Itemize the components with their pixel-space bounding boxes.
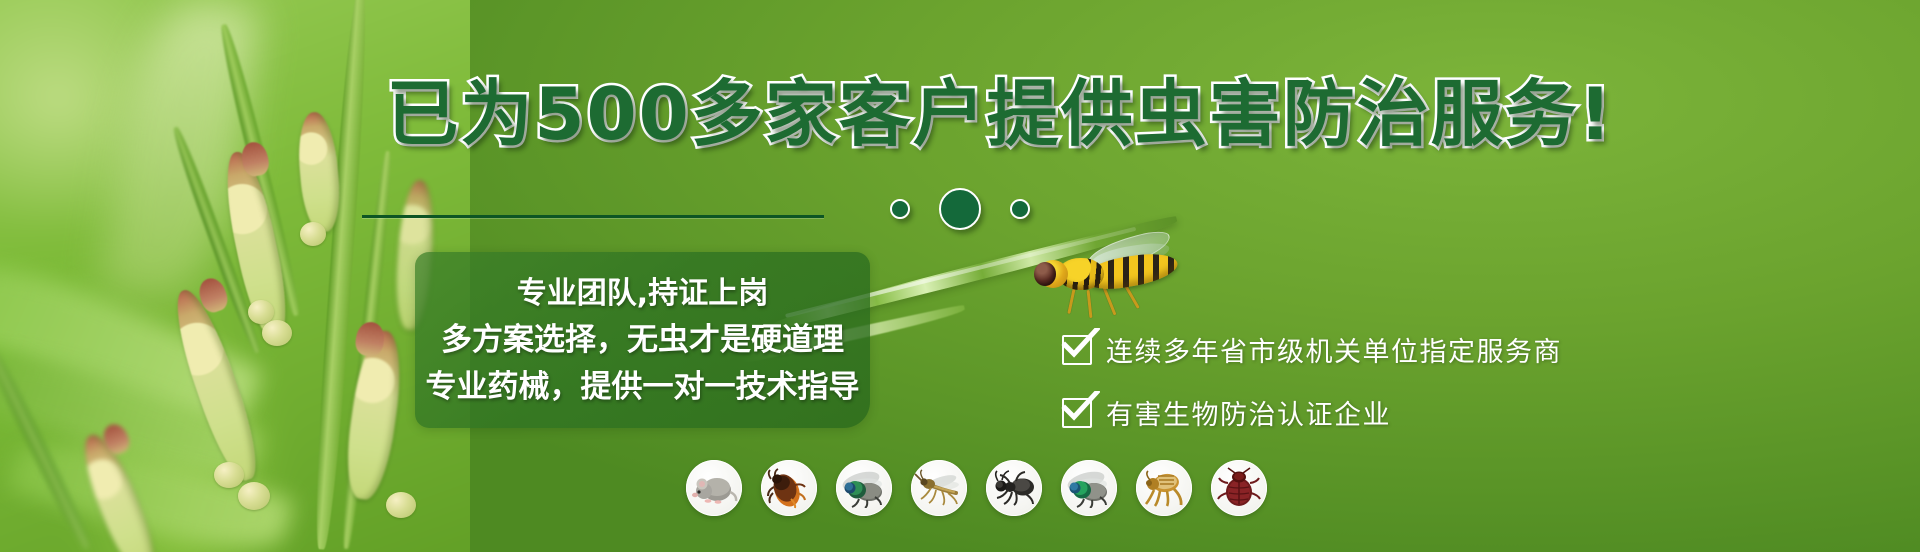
catkin-bud — [386, 492, 416, 518]
plant-catkin — [73, 428, 164, 552]
feature-card: 专业团队,持证上岗 多方案选择，无虫才是硬道理 专业药械，提供一对一技术指导 — [415, 252, 870, 428]
checked-checkbox-icon — [1062, 398, 1092, 428]
plant-catkin — [165, 284, 268, 486]
blowfly-icon[interactable] — [1061, 460, 1117, 516]
pest-icon-row — [686, 460, 1267, 516]
cockroach-icon[interactable] — [761, 460, 817, 516]
mosquito-icon[interactable] — [911, 460, 967, 516]
flea-icon[interactable] — [1136, 460, 1192, 516]
insect-wing — [1084, 227, 1174, 276]
feature-card-line-1: 专业团队,持证上岗 — [415, 271, 870, 316]
background-leaf-blur — [100, 0, 261, 307]
insect-leg — [1123, 283, 1140, 309]
catkin-tip — [99, 421, 132, 458]
insect-abdomen — [1084, 248, 1180, 294]
plant-stem — [169, 125, 263, 355]
catkin-bud — [262, 320, 292, 346]
background-leaf-blur — [6, 423, 294, 552]
insect-thorax — [1058, 258, 1104, 290]
horizontal-divider — [362, 215, 824, 218]
checklist-item-label: 连续多年省市级机关单位指定服务商 — [1106, 330, 1562, 369]
checklist: 连续多年省市级机关单位指定服务商 有害生物防治认证企业 — [1062, 330, 1562, 456]
catkin-bud — [238, 482, 270, 510]
catkin-bud — [214, 462, 244, 488]
catkin-tip — [195, 275, 231, 316]
insect-leg — [1102, 287, 1116, 316]
bedbug-icon[interactable] — [1211, 460, 1267, 516]
background-leaf-blur — [0, 237, 264, 453]
insect-leg — [1067, 288, 1075, 314]
hoverfly-on-grass-blade — [1030, 246, 1180, 320]
insect-leg — [1087, 290, 1093, 318]
ant-icon[interactable] — [986, 460, 1042, 516]
catkin-tip — [354, 320, 386, 358]
plant-stem — [216, 23, 304, 318]
decorative-dot-small-right — [1010, 199, 1030, 219]
mouse-icon[interactable] — [686, 460, 742, 516]
insect-head — [1038, 260, 1068, 288]
catkin-bud — [248, 300, 274, 324]
promo-banner: 已为500多家客户提供虫害防治服务! 专业团队,持证上岗 多方案选择，无虫才是硬… — [0, 0, 1920, 552]
decorative-dot-small-left — [890, 199, 910, 219]
checked-checkbox-icon — [1062, 335, 1092, 365]
decorative-dot-large-center — [939, 188, 981, 230]
fly-icon[interactable] — [836, 460, 892, 516]
feature-card-line-3: 专业药械，提供一对一技术指导 — [415, 364, 870, 411]
decorative-dot-row — [0, 188, 1920, 230]
feature-card-line-2: 多方案选择，无虫才是硬道理 — [415, 316, 870, 364]
background-leaf-blur — [0, 331, 263, 499]
plant-catkin — [217, 148, 296, 342]
headline: 已为500多家客户提供虫害防治服务! — [0, 78, 1920, 150]
plant-catkin — [340, 328, 407, 502]
plant-stem — [0, 339, 94, 552]
checklist-item-label: 有害生物防治认证企业 — [1106, 393, 1391, 432]
insect-eye — [1034, 262, 1056, 286]
checklist-item: 连续多年省市级机关单位指定服务商 — [1062, 330, 1562, 369]
checklist-item: 有害生物防治认证企业 — [1062, 393, 1562, 432]
headline-text: 已为500多家客户提供虫害防治服务! — [386, 72, 1613, 156]
insect-wing — [1091, 241, 1171, 272]
